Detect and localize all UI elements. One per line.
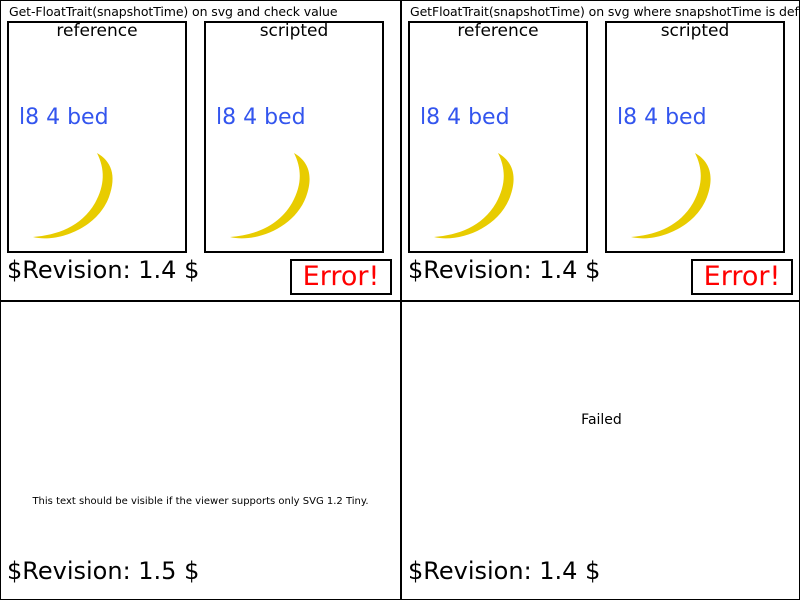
panel-label-reference: reference	[9, 21, 185, 41]
crescent-moon-icon	[23, 151, 143, 251]
quadrant-bottom-left: This text should be visible if the viewe…	[1, 302, 400, 601]
crescent-moon-icon	[220, 151, 340, 251]
panel-label-scripted: scripted	[607, 21, 783, 41]
test-result-page: Get-FloatTrait(snapshotTime) on svg and …	[0, 0, 800, 600]
crescent-moon-icon	[621, 151, 741, 251]
panel-label-scripted: scripted	[206, 21, 382, 41]
quadrant-top-left: Get-FloatTrait(snapshotTime) on svg and …	[1, 1, 400, 300]
reference-panel: reference l8 4 bed	[7, 21, 187, 253]
reference-panel: reference l8 4 bed	[408, 21, 588, 253]
scripted-panel: scripted l8 4 bed	[605, 21, 785, 253]
status-badge: Error!	[691, 259, 793, 295]
panel-label-reference: reference	[410, 21, 586, 41]
blue-label-text: l8 4 bed	[420, 105, 510, 130]
blue-label-text: l8 4 bed	[19, 105, 109, 130]
test-title: Get-FloatTrait(snapshotTime) on svg and …	[9, 4, 337, 19]
status-badge: Error!	[290, 259, 392, 295]
revision-label: $Revision: 1.4 $	[408, 557, 600, 585]
blue-label-text: l8 4 bed	[617, 105, 707, 130]
quadrant-bottom-right: Failed $Revision: 1.4 $	[402, 302, 800, 601]
viewer-support-note: This text should be visible if the viewe…	[1, 496, 400, 507]
crescent-moon-icon	[424, 151, 544, 251]
revision-label: $Revision: 1.4 $	[408, 256, 600, 284]
blue-label-text: l8 4 bed	[216, 105, 306, 130]
revision-label: $Revision: 1.5 $	[7, 557, 199, 585]
test-title: GetFloatTrait(snapshotTime) on svg where…	[410, 4, 800, 19]
status-text: Failed	[402, 412, 800, 428]
scripted-panel: scripted l8 4 bed	[204, 21, 384, 253]
quadrant-top-right: GetFloatTrait(snapshotTime) on svg where…	[402, 1, 800, 300]
revision-label: $Revision: 1.4 $	[7, 256, 199, 284]
